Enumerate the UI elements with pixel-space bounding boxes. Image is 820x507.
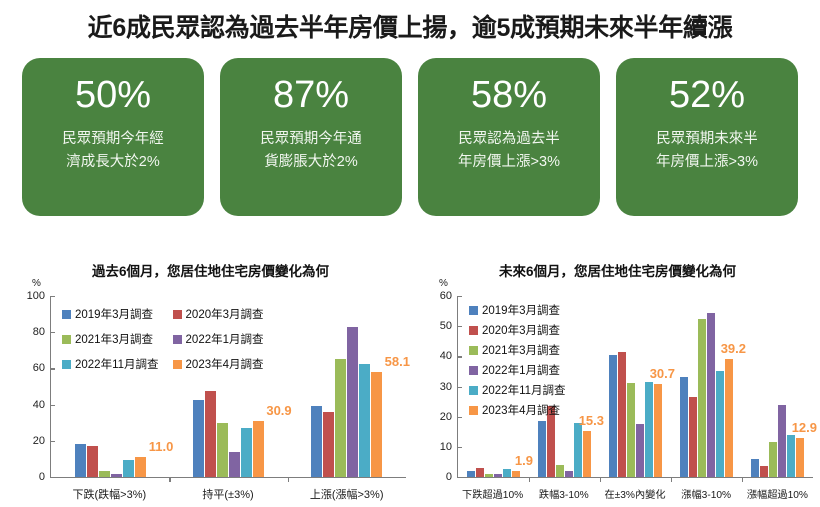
bar — [217, 423, 228, 477]
bar — [485, 474, 493, 477]
bar — [689, 397, 697, 477]
page-title: 近6成民眾認為過去半年房價上揚，逾5成預期未來半年續漲 — [0, 8, 820, 44]
legend-label: 2021年3月調查 — [482, 342, 560, 358]
chart-title: 未來6個月，您居住地住宅房價變化為何 — [415, 260, 820, 280]
y-axis-unit: % — [32, 278, 41, 289]
legend-item[interactable]: 2020年3月調查 — [173, 306, 264, 322]
stat-card-desc-line2: 年房價上漲>3% — [656, 151, 758, 174]
chart-past-6-months: 過去6個月，您居住地住宅房價變化為何 % 11.030.958.1 100806… — [8, 258, 413, 507]
bar-group: 12.9 — [742, 296, 813, 477]
y-axis-tick: 60 — [33, 362, 51, 374]
legend-item[interactable]: 2023年4月調查 — [173, 356, 264, 372]
infographic-page: 近6成民眾認為過去半年房價上揚，逾5成預期未來半年續漲 50% 民眾預期今年經 … — [0, 0, 820, 507]
stat-card-desc-line1: 民眾預期今年通 — [260, 128, 362, 151]
legend-swatch-icon — [469, 366, 478, 375]
x-axis-labels: 下跌超過10%跌幅3-10%在±3%內變化漲幅3-10%漲幅超過10% — [457, 486, 813, 501]
bar — [609, 355, 617, 477]
bar — [371, 372, 382, 477]
bar-data-label: 58.1 — [385, 354, 410, 369]
legend-swatch-icon — [469, 406, 478, 415]
bar — [618, 352, 626, 477]
stat-card-percent: 87% — [273, 76, 349, 114]
x-axis-label: 上漲(漲幅>3%) — [287, 486, 406, 502]
chart-title: 過去6個月，您居住地住宅房價變化為何 — [8, 260, 413, 280]
bar-group: 39.2 — [671, 296, 742, 477]
stat-card: 50% 民眾預期今年經 濟成長大於2% — [22, 58, 204, 216]
y-axis-tick: 20 — [440, 411, 458, 423]
y-axis-tick: 40 — [440, 350, 458, 362]
y-axis-tick: 10 — [440, 441, 458, 453]
legend-item[interactable]: 2021年3月調查 — [469, 342, 566, 358]
stat-card: 52% 民眾預期未來半 年房價上漲>3% — [616, 58, 798, 216]
x-axis-label: 下跌超過10% — [457, 486, 528, 501]
x-axis-label: 在±3%內變化 — [599, 486, 670, 501]
legend-label: 2023年4月調查 — [482, 402, 560, 418]
bar-group: 58.1 — [288, 296, 406, 477]
bar — [335, 359, 346, 477]
y-axis-tick: 50 — [440, 320, 458, 332]
legend-swatch-icon — [469, 326, 478, 335]
legend-label: 2020年3月調查 — [482, 322, 560, 338]
legend-item[interactable]: 2020年3月調查 — [469, 322, 566, 338]
x-axis-labels: 下跌(跌幅>3%)持平(±3%)上漲(漲幅>3%) — [50, 486, 406, 502]
legend-item[interactable]: 2022年11月調查 — [62, 356, 159, 372]
stat-card-row: 50% 民眾預期今年經 濟成長大於2% 87% 民眾預期今年通 貨膨脹大於2% … — [22, 58, 798, 216]
bar — [503, 469, 511, 477]
bar — [583, 431, 591, 477]
bar — [111, 474, 122, 477]
bar — [494, 474, 502, 477]
legend-label: 2022年11月調查 — [75, 356, 159, 372]
y-axis-tick: 0 — [39, 471, 51, 483]
bar — [556, 465, 564, 477]
legend-label: 2022年1月調查 — [186, 331, 264, 347]
bar — [135, 457, 146, 477]
legend-label: 2019年3月調查 — [75, 306, 153, 322]
legend-item[interactable]: 2022年11月調查 — [469, 382, 566, 398]
stat-card-desc-line1: 民眾預期未來半 — [656, 128, 758, 151]
bar — [253, 421, 264, 477]
bar — [707, 313, 715, 477]
legend-label: 2021年3月調查 — [75, 331, 153, 347]
legend-label: 2022年11月調查 — [482, 382, 566, 398]
bar — [645, 382, 653, 477]
x-axis-label: 持平(±3%) — [169, 486, 288, 502]
bar — [796, 438, 804, 477]
bar — [751, 459, 759, 477]
bar — [565, 471, 573, 477]
legend-swatch-icon — [173, 310, 182, 319]
bar — [241, 428, 252, 477]
legend-label: 2022年1月調查 — [482, 362, 560, 378]
y-axis-tick: 30 — [440, 381, 458, 393]
bar — [627, 383, 635, 477]
bar-data-label: 12.9 — [792, 420, 817, 435]
legend-item[interactable]: 2022年1月調查 — [173, 331, 264, 347]
y-axis-tick: 20 — [33, 435, 51, 447]
bar — [229, 452, 240, 477]
stat-card-desc-line2: 年房價上漲>3% — [458, 151, 560, 174]
stat-card-percent: 58% — [471, 76, 547, 114]
chart-next-6-months: 未來6個月，您居住地住宅房價變化為何 % 1.915.330.739.212.9… — [415, 258, 820, 507]
y-axis-tick: 40 — [33, 399, 51, 411]
bar — [347, 327, 358, 477]
bar — [193, 400, 204, 477]
chart-legend: 2019年3月調查2020年3月調查2021年3月調查2022年1月調查2022… — [469, 302, 566, 418]
legend-label: 2019年3月調查 — [482, 302, 560, 318]
stat-card-desc-line1: 民眾預期今年經 — [62, 128, 164, 151]
bar — [123, 460, 134, 477]
y-axis-tick: 80 — [33, 326, 51, 338]
legend-item[interactable]: 2019年3月調查 — [62, 306, 159, 322]
bar — [787, 435, 795, 477]
bar — [716, 371, 724, 477]
bar — [680, 377, 688, 477]
legend-item[interactable]: 2021年3月調查 — [62, 331, 159, 347]
legend-label: 2020年3月調查 — [186, 306, 264, 322]
bar-group: 30.7 — [600, 296, 671, 477]
x-axis-label: 跌幅3-10% — [528, 486, 599, 501]
bar — [725, 359, 733, 477]
stat-card: 87% 民眾預期今年通 貨膨脹大於2% — [220, 58, 402, 216]
legend-swatch-icon — [62, 335, 71, 344]
bar — [311, 406, 322, 477]
bar — [654, 384, 662, 477]
legend-swatch-icon — [469, 346, 478, 355]
bar — [538, 421, 546, 477]
bar — [769, 442, 777, 477]
legend-swatch-icon — [173, 335, 182, 344]
x-axis-label: 漲幅3-10% — [671, 486, 742, 501]
bar — [467, 471, 475, 477]
bar — [636, 424, 644, 477]
legend-item[interactable]: 2022年1月調查 — [469, 362, 566, 378]
bar — [205, 391, 216, 477]
stat-card-percent: 52% — [669, 76, 745, 114]
legend-swatch-icon — [469, 306, 478, 315]
bar — [476, 468, 484, 477]
stat-card-desc-line2: 濟成長大於2% — [66, 151, 159, 174]
legend-item[interactable]: 2023年4月調查 — [469, 402, 566, 418]
bar — [323, 412, 334, 477]
legend-swatch-icon — [62, 360, 71, 369]
y-axis-tick: 100 — [27, 290, 51, 302]
legend-swatch-icon — [62, 310, 71, 319]
legend-item[interactable]: 2019年3月調查 — [469, 302, 566, 318]
stat-card-desc-line2: 貨膨脹大於2% — [264, 151, 357, 174]
legend-label: 2023年4月調查 — [186, 356, 264, 372]
bar — [698, 319, 706, 477]
x-axis-label: 漲幅超過10% — [742, 486, 813, 501]
legend-swatch-icon — [173, 360, 182, 369]
bar — [87, 446, 98, 477]
chart-legend: 2019年3月調查2020年3月調查2021年3月調查2022年1月調查2022… — [62, 306, 264, 372]
stat-card-desc-line1: 民眾認為過去半 — [458, 128, 560, 151]
legend-swatch-icon — [469, 386, 478, 395]
stat-card-percent: 50% — [75, 76, 151, 114]
bar — [512, 471, 520, 477]
bar — [760, 466, 768, 477]
bar — [99, 471, 110, 477]
y-axis-unit: % — [439, 278, 448, 289]
y-axis-tick: 60 — [440, 290, 458, 302]
bar — [359, 364, 370, 477]
bar — [75, 444, 86, 477]
x-axis-label: 下跌(跌幅>3%) — [50, 486, 169, 502]
bar — [778, 405, 786, 477]
bar — [574, 423, 582, 477]
y-axis-tick: 0 — [446, 471, 458, 483]
stat-card: 58% 民眾認為過去半 年房價上漲>3% — [418, 58, 600, 216]
